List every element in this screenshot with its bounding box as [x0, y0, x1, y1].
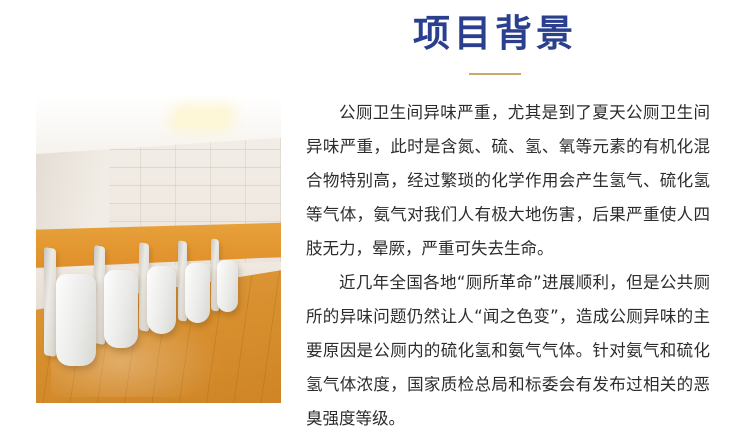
paragraph-1: 公厕卫生间异味严重，尤其是到了夏天公厕卫生间异味严重，此时是含氮、硫、氢、氧等元…	[306, 96, 710, 266]
photo-urinal-1	[56, 274, 96, 366]
photo-partition-1	[44, 247, 56, 357]
title-divider	[469, 73, 521, 75]
photo-urinal-5	[217, 260, 238, 312]
photo-scene	[36, 96, 281, 403]
page-title: 项目背景	[285, 14, 705, 55]
restroom-photo	[36, 96, 281, 403]
paragraph-2: 近几年全国各地“厕所革命”进展顺利，但是公共厕所的异味问题仍然让人“闻之色变”，…	[306, 266, 710, 436]
page-root: 项目背景 公厕卫生间异味严重，尤其是	[0, 0, 750, 442]
photo-urinal-2	[104, 270, 138, 348]
photo-urinal-3	[147, 266, 176, 334]
title-block: 项目背景	[285, 14, 705, 75]
photo-urinal-4	[185, 263, 210, 323]
photo-ceiling-light	[173, 110, 230, 126]
body-text: 公厕卫生间异味严重，尤其是到了夏天公厕卫生间异味严重，此时是含氮、硫、氢、氧等元…	[306, 96, 710, 436]
